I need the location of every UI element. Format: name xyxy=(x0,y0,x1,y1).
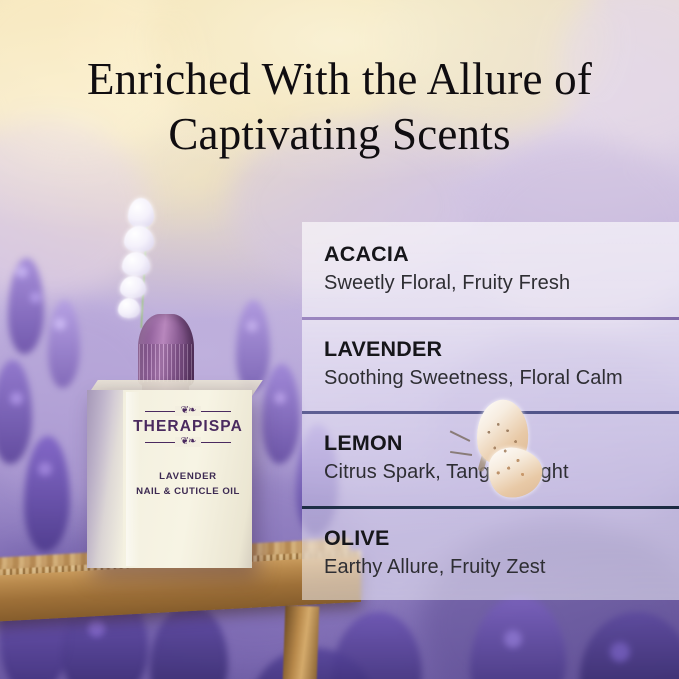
ornament-knot-icon: ❦❧ xyxy=(175,437,201,447)
butterfly-antenna xyxy=(450,451,472,456)
ornament-knot-icon: ❦❧ xyxy=(175,406,201,416)
ornament-flourish-top-icon: ❦❧ xyxy=(145,406,231,416)
product-bottle: ❦❧ THERAPISPA ❦❧ LAVENDER NAIL & CUTICLE… xyxy=(82,310,282,570)
page-title: Enriched With the Allure of Captivating … xyxy=(0,52,679,162)
brand-name: THERAPISPA xyxy=(126,418,250,436)
scent-description: Soothing Sweetness, Floral Calm xyxy=(324,367,679,390)
product-variant: LAVENDER xyxy=(126,471,250,482)
butterfly-antenna xyxy=(450,430,470,441)
scent-description: Earthy Allure, Fruity Zest xyxy=(324,556,679,579)
product-marketing-image: ❦❧ THERAPISPA ❦❧ LAVENDER NAIL & CUTICLE… xyxy=(0,0,679,679)
scent-row-acacia: ACACIA Sweetly Floral, Fruity Fresh xyxy=(302,222,679,317)
bottle-side-shadow xyxy=(87,390,123,568)
scent-title: ACACIA xyxy=(324,243,679,267)
sprig-bud xyxy=(124,226,154,252)
wooden-stool-leg xyxy=(283,605,320,679)
sprig-bud xyxy=(122,252,150,276)
headline-line-1: Enriched With the Allure of xyxy=(0,52,679,107)
scent-row-olive: OLIVE Earthy Allure, Fruity Zest xyxy=(302,506,679,601)
bottle-label: ❦❧ THERAPISPA ❦❧ LAVENDER NAIL & CUTICLE… xyxy=(126,406,250,497)
product-type: NAIL & CUTICLE OIL xyxy=(126,486,250,497)
ornament-flourish-bottom-icon: ❦❧ xyxy=(145,437,231,447)
scent-title: LAVENDER xyxy=(324,338,679,362)
sprig-bud xyxy=(120,276,146,298)
headline-line-2: Captivating Scents xyxy=(0,107,679,162)
butterfly-icon xyxy=(452,396,564,504)
scent-title: OLIVE xyxy=(324,527,679,551)
lavender-sprig-icon xyxy=(118,196,174,326)
butterfly-wing-spots xyxy=(482,412,540,490)
scent-description: Sweetly Floral, Fruity Fresh xyxy=(324,272,679,295)
sprig-bud xyxy=(128,198,154,228)
